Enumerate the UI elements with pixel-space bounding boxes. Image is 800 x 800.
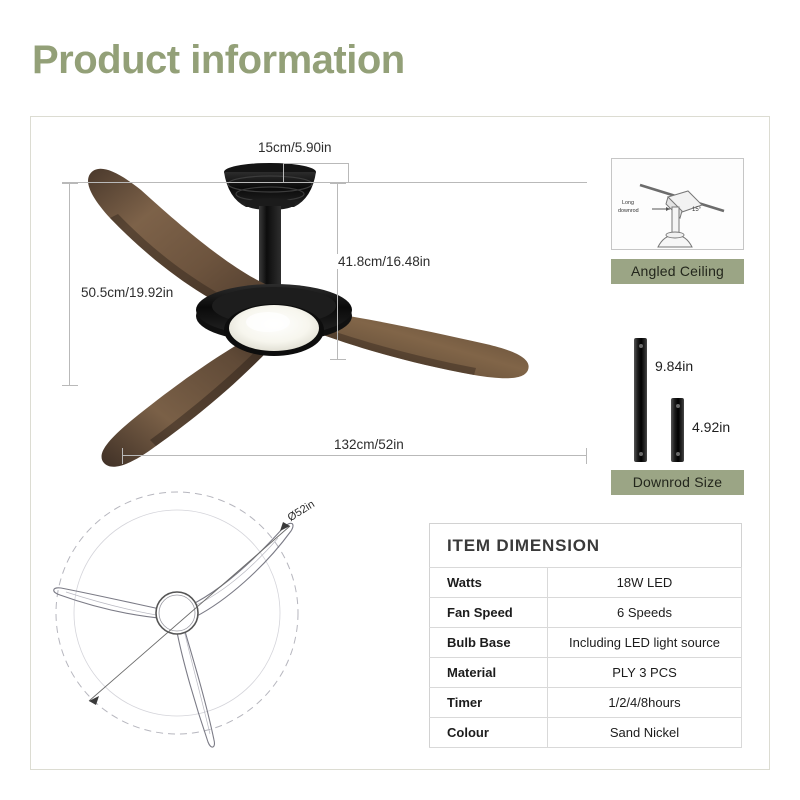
downrod <box>259 206 281 292</box>
dim-tick-canopy-left <box>283 163 284 183</box>
dim-line-blade-drop <box>69 183 70 386</box>
downrod-short-label: 4.92in <box>692 419 730 435</box>
dim-line-fixture-height <box>337 183 338 360</box>
dim-label-blade-drop: 50.5cm/19.92in <box>78 285 176 300</box>
angled-ceiling-angle-label: 15° <box>692 207 702 213</box>
downrod-short <box>671 398 684 462</box>
spec-value-colour: Sand Nickel <box>548 718 742 748</box>
item-dimension-table: ITEM DIMENSION Watts 18W LED Fan Speed 6… <box>429 523 742 748</box>
page-title: Product information <box>32 40 405 80</box>
ceiling-reference-line <box>62 182 587 183</box>
dim-tick-fixture-bottom <box>330 359 346 360</box>
dim-label-fixture-height: 41.8cm/16.48in <box>335 254 433 269</box>
dim-tick-drop-top <box>62 183 78 184</box>
spec-label-fan-speed: Fan Speed <box>430 598 548 628</box>
spec-label-bulb-base: Bulb Base <box>430 628 548 658</box>
dim-label-canopy-width: 15cm/5.90in <box>255 140 335 155</box>
svg-text:downrod: downrod <box>618 208 639 214</box>
spec-table-header: ITEM DIMENSION <box>430 524 742 568</box>
spec-label-colour: Colour <box>430 718 548 748</box>
angled-ceiling-downrod-label: Long <box>622 200 634 206</box>
downrod-visual-group: 9.84in 4.92in <box>611 336 744 464</box>
table-row: Timer 1/2/4/8hours <box>430 688 742 718</box>
angled-ceiling-badge: Angled Ceiling <box>611 259 744 284</box>
downrod-long-label: 9.84in <box>655 358 693 374</box>
dim-line-canopy-width <box>283 163 349 164</box>
dim-line-blade-span <box>122 455 587 456</box>
spec-value-timer: 1/2/4/8hours <box>548 688 742 718</box>
table-row: Fan Speed 6 Speeds <box>430 598 742 628</box>
spec-value-bulb-base: Including LED light source <box>548 628 742 658</box>
table-row: Watts 18W LED <box>430 568 742 598</box>
angled-ceiling-diagram: Long downrod 15° <box>612 159 744 250</box>
spec-value-material: PLY 3 PCS <box>548 658 742 688</box>
dim-tick-span-left <box>122 448 123 464</box>
dim-label-blade-span: 132cm/52in <box>331 437 407 452</box>
led-light-dome <box>224 304 324 356</box>
angled-ceiling-card: Long downrod 15° Angled Ceiling <box>611 158 744 284</box>
dim-tick-canopy-right <box>348 163 349 183</box>
spec-value-watts: 18W LED <box>548 568 742 598</box>
spec-value-fan-speed: 6 Speeds <box>548 598 742 628</box>
table-row: Bulb Base Including LED light source <box>430 628 742 658</box>
downrod-size-card: 9.84in 4.92in Downrod Size <box>611 336 744 495</box>
spec-label-material: Material <box>430 658 548 688</box>
ceiling-canopy <box>224 163 316 210</box>
fan-topview-drawing <box>50 486 360 751</box>
spec-label-watts: Watts <box>430 568 548 598</box>
spec-table-header-row: ITEM DIMENSION <box>430 524 742 568</box>
dim-tick-span-right <box>586 448 587 464</box>
table-row: Material PLY 3 PCS <box>430 658 742 688</box>
spec-table-body: ITEM DIMENSION Watts 18W LED Fan Speed 6… <box>430 524 742 748</box>
hub-outer <box>156 592 198 634</box>
angled-ceiling-diagram-box: Long downrod 15° <box>611 158 744 250</box>
dim-tick-fixture-top <box>330 183 346 184</box>
dim-tick-drop-bottom <box>62 385 78 386</box>
topview-blades <box>54 523 293 747</box>
table-row: Colour Sand Nickel <box>430 718 742 748</box>
fan-topview-svg <box>50 486 360 751</box>
downrod-long <box>634 338 647 462</box>
downrod-size-badge: Downrod Size <box>611 470 744 495</box>
spec-label-timer: Timer <box>430 688 548 718</box>
